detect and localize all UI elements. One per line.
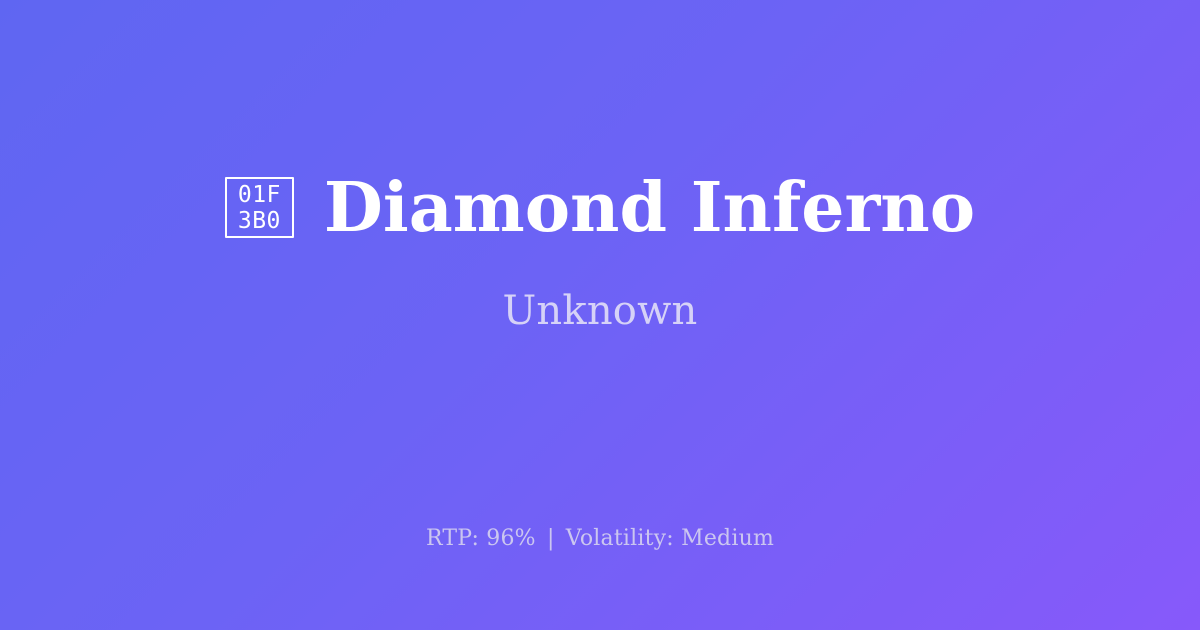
rtp-label: RTP: — [426, 526, 479, 551]
game-stats: RTP: 96% | Volatility: Medium — [0, 524, 1200, 554]
volatility-label: Volatility: — [566, 526, 674, 551]
stats-divider: | — [543, 526, 559, 551]
volatility-value: Medium — [681, 526, 774, 551]
slot-machine-icon-codepoint-bottom: 3B0 — [238, 208, 281, 234]
game-provider: Unknown — [503, 289, 698, 333]
title-row: 01F 3B0 Diamond Inferno — [0, 173, 1200, 244]
game-title: Diamond Inferno — [324, 173, 975, 244]
game-preview-card: 01F 3B0 Diamond Inferno Unknown RTP: 96%… — [0, 0, 1200, 630]
slot-machine-icon: 01F 3B0 — [225, 177, 294, 238]
slot-machine-icon-codepoint-top: 01F — [238, 182, 281, 208]
hero-block: 01F 3B0 Diamond Inferno Unknown — [0, 0, 1200, 512]
rtp-value: 96% — [486, 526, 536, 551]
